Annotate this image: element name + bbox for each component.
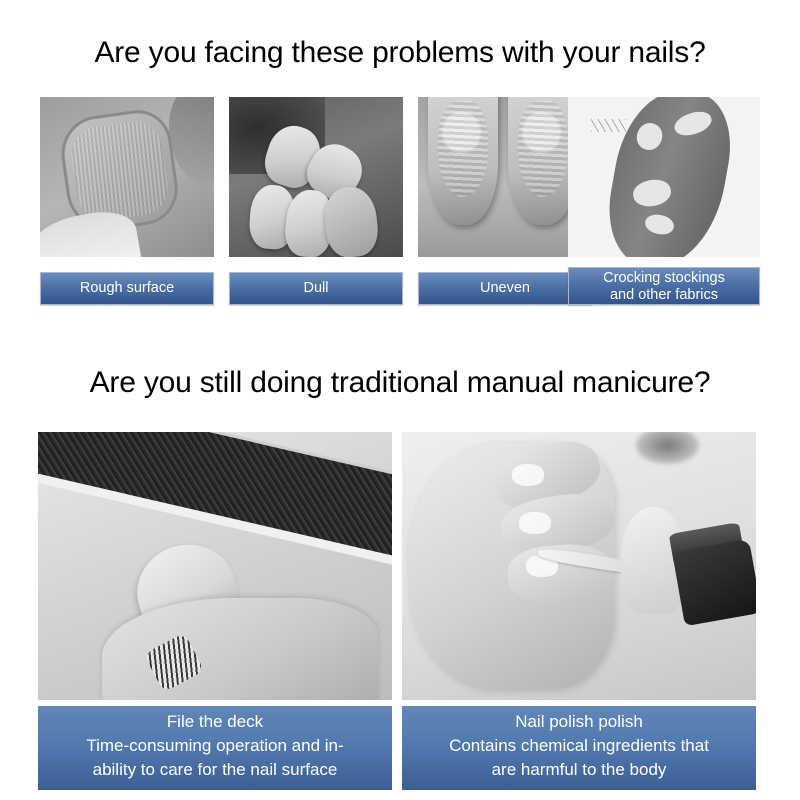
caption-nail-polish: Nail polish polish Contains chemical ing… <box>402 706 756 790</box>
rough-nail-surface-closeup-photo <box>40 97 214 257</box>
problem-card-row: Rough surface Dull <box>40 97 760 307</box>
problem-card-dull[interactable]: Dull <box>229 97 403 307</box>
caption-line: ability to care for the nail surface <box>38 758 392 782</box>
problem-label-line: Crocking stockings <box>569 270 759 287</box>
snagged-stockings-leg-photo <box>568 97 760 257</box>
caption-line: Nail polish polish <box>402 710 756 734</box>
problem-label-line: Uneven <box>419 273 591 304</box>
manicure-card-row: File the deck Time-consuming operation a… <box>38 432 762 792</box>
problem-label-line: Rough surface <box>41 273 213 304</box>
caption-line: are harmful to the body <box>402 758 756 782</box>
hand-filing-nail-with-emery-board-photo <box>38 432 392 700</box>
caption-line: Contains chemical ingredients that <box>402 734 756 758</box>
problem-label-crocking-stockings: Crocking stockings and other fabrics <box>568 267 760 305</box>
manicure-card-file-the-deck[interactable]: File the deck Time-consuming operation a… <box>38 432 392 790</box>
problem-card-uneven[interactable]: Uneven <box>418 97 592 307</box>
problem-label-rough-surface: Rough surface <box>40 272 214 305</box>
problem-label-dull: Dull <box>229 272 403 305</box>
caption-file-the-deck: File the deck Time-consuming operation a… <box>38 706 392 790</box>
manicure-card-nail-polish[interactable]: Nail polish polish Contains chemical ing… <box>402 432 756 790</box>
problem-label-line: and other fabrics <box>569 287 759 304</box>
caption-line: File the deck <box>38 710 392 734</box>
product-infographic-page: Are you facing these problems with your … <box>0 0 800 800</box>
hand-applying-nail-polish-brush-photo <box>402 432 756 700</box>
manual-manicure-section-heading: Are you still doing traditional manual m… <box>0 366 800 400</box>
caption-line: Time-consuming operation and in- <box>38 734 392 758</box>
dull-fingernails-clasped-hands-photo <box>229 97 403 257</box>
problem-label-line: Dull <box>230 273 402 304</box>
problem-label-uneven: Uneven <box>418 272 592 305</box>
uneven-fingernails-two-fingers-photo <box>418 97 592 257</box>
problem-card-rough-surface[interactable]: Rough surface <box>40 97 214 307</box>
problem-card-crocking-stockings[interactable]: Crocking stockings and other fabrics <box>568 97 760 307</box>
problems-section-heading: Are you facing these problems with your … <box>0 36 800 70</box>
